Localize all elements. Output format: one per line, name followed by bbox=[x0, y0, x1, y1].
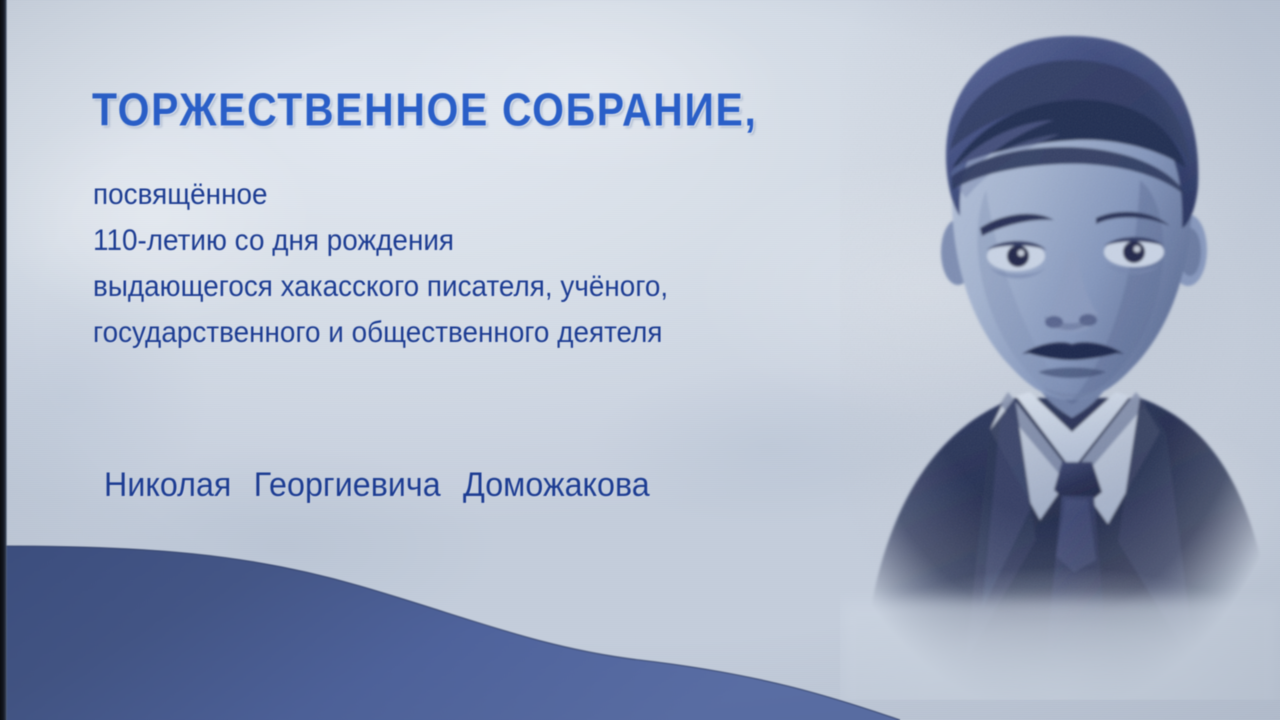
screen-bezel-left bbox=[0, 0, 7, 720]
wave-decoration bbox=[0, 520, 1280, 720]
subtitle-line-4: государственного и общественного деятеля bbox=[93, 310, 668, 356]
subtitle-block: посвящённое 110-летию со дня рождения вы… bbox=[93, 172, 668, 356]
subtitle-line-1: посвящённое bbox=[93, 172, 668, 218]
presentation-slide: ТОРЖЕСТВЕННОЕ СОБРАНИЕ, посвящённое 110-… bbox=[0, 0, 1280, 720]
page-title: ТОРЖЕСТВЕННОЕ СОБРАНИЕ, bbox=[92, 84, 757, 137]
subtitle-line-3: выдающегося хакасского писателя, учёного… bbox=[93, 264, 668, 310]
subtitle-line-2: 110-летию со дня рождения bbox=[93, 218, 668, 264]
honoree-name: Николая Георгиевича Доможакова bbox=[104, 466, 650, 505]
